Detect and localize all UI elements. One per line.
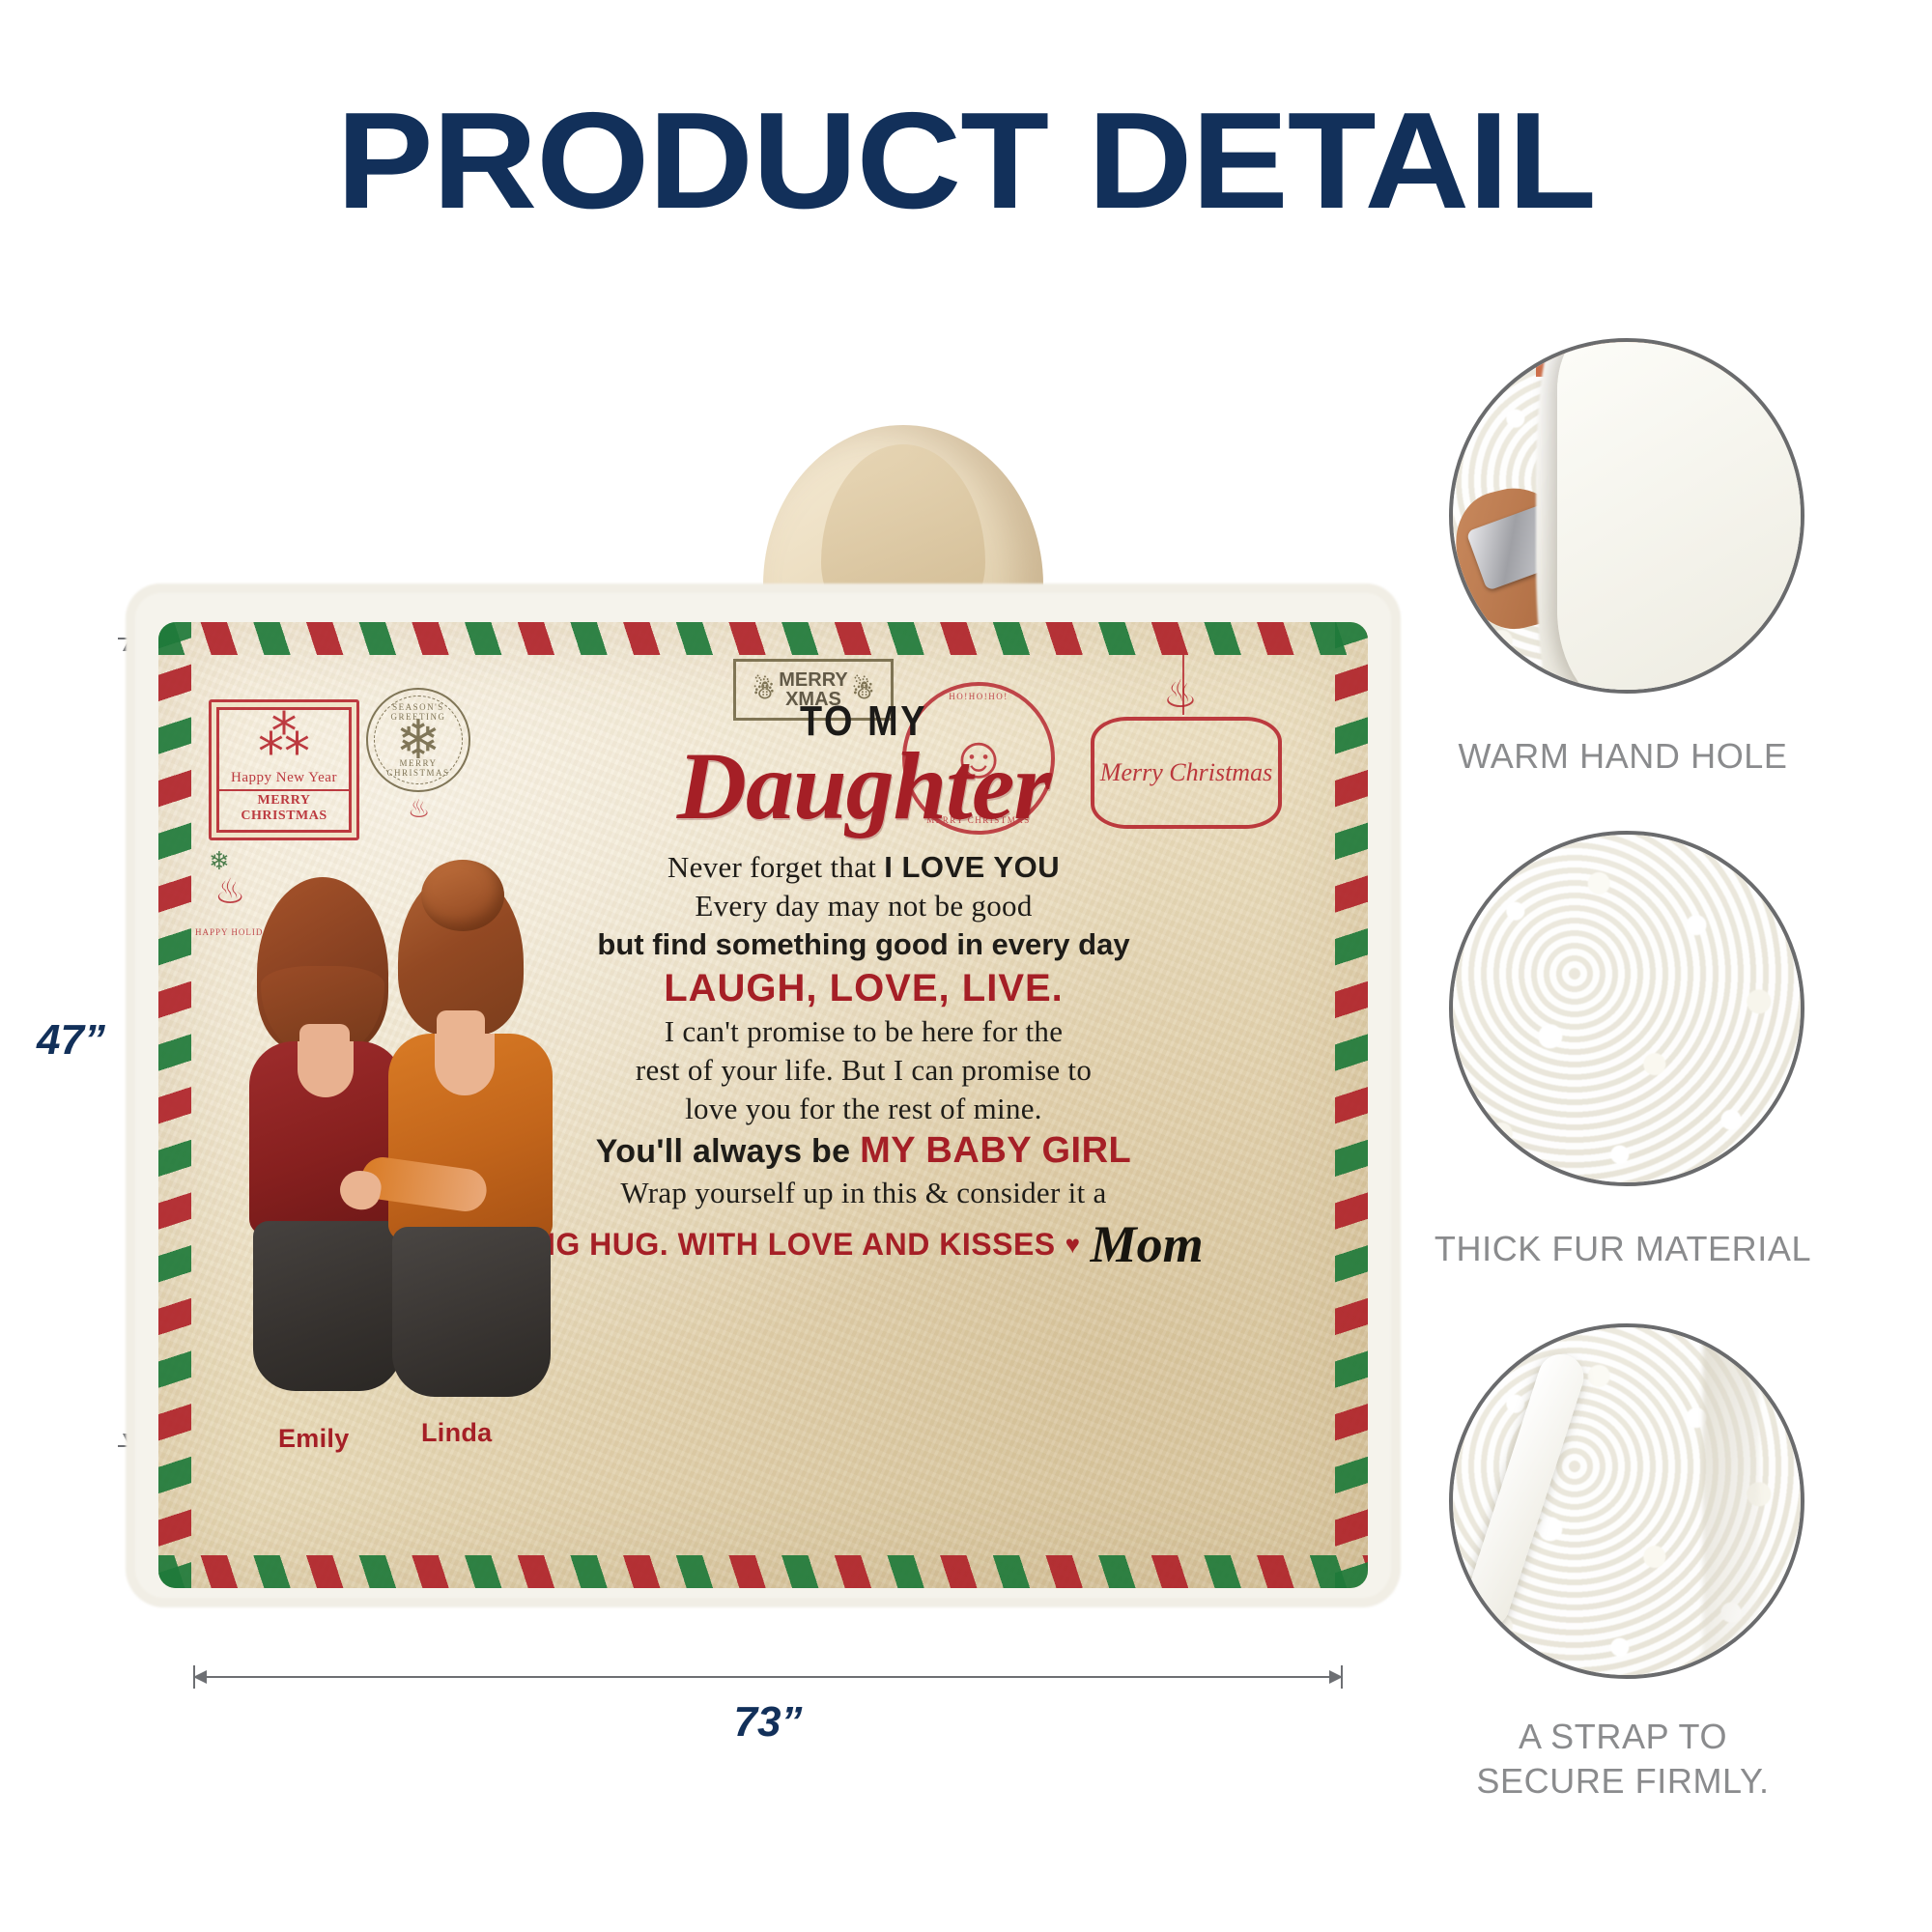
gingerbread-man-icon-right: ☃ (852, 680, 874, 699)
letter-line-7: love you for the rest of mine. (506, 1090, 1221, 1128)
letter-text-block: TO MY Daughter Never forget that I LOVE … (506, 699, 1221, 1274)
stamp-merry-christmas-line: MERRY CHRISTMAS (217, 789, 351, 824)
letter-line-9: Wrap yourself up in this & consider it a (506, 1174, 1221, 1212)
letter-line-6: rest of your life. But I can promise to (506, 1051, 1221, 1090)
strap-to-secure-label: A STRAP TO SECURE FIRMLY. (1352, 1715, 1893, 1804)
strap-to-secure-photo (1449, 1323, 1804, 1679)
letter-line-8: You'll always be MY BABY GIRL (506, 1128, 1221, 1174)
letter-to-line: TO MY (556, 699, 1171, 744)
gingerbread-man-icon-left: ☃ (753, 680, 775, 699)
letter-line-8-emphasis: MY BABY GIRL (860, 1130, 1131, 1171)
stamp-merry-xmas-line1: MERRY (779, 669, 847, 691)
thick-fur-material-label: THICK FUR MATERIAL (1352, 1227, 1893, 1271)
stamp-new-year-line: Happy New Year (212, 770, 356, 786)
height-arrow-bottom-icon (123, 1434, 136, 1447)
figure-right-hair-bun (421, 860, 504, 931)
stamp-ring-top-text: SEASON'S GREETING (375, 702, 462, 722)
figure-right-name: Linda (421, 1418, 493, 1448)
heart-icon: ♥ (1065, 1230, 1081, 1260)
letter-line-2: Every day may not be good (506, 887, 1221, 925)
figure-right-pants (392, 1227, 551, 1397)
figure-left-name: Emily (278, 1424, 350, 1454)
product-detail-page: PRODUCT DETAIL 47” 73” (0, 0, 1932, 1932)
letter-signature-name: Mom (1091, 1214, 1204, 1274)
width-arrow-left-icon (193, 1670, 207, 1684)
thick-fur-material-photo (1449, 831, 1804, 1186)
letter-body: Never forget that I LOVE YOU Every day m… (506, 848, 1221, 1274)
blanket-printed-face: ⁂ Happy New Year MERRY CHRISTMAS SEASON'… (158, 622, 1368, 1588)
height-dimension-label: 47” (37, 1016, 105, 1065)
stamp-ring: SEASON'S GREETING MERRY CHRISTMAS (374, 696, 463, 784)
letter-line-3: but find something good in every day (506, 925, 1221, 964)
figure-right-neckline (435, 1034, 495, 1095)
blanket-body: ⁂ Happy New Year MERRY CHRISTMAS SEASON'… (145, 609, 1381, 1584)
hand-hole-flap (1557, 338, 1804, 694)
width-dimension-label: 73” (0, 1698, 1536, 1747)
height-arrow-top-icon (123, 638, 136, 651)
sherpa-texture (1453, 835, 1801, 1182)
warm-hand-hole-label: WARM HAND HOLE (1372, 734, 1874, 779)
figure-left-pants (253, 1221, 402, 1391)
illustrated-figures: Emily Linda (216, 844, 564, 1511)
bells-icon: ⁂ (212, 702, 356, 770)
letter-signature-row: BIG HUG. WITH LOVE AND KISSES ♥ Mom (506, 1214, 1221, 1274)
blanket-edge (1703, 1327, 1759, 1675)
letter-line-1: Never forget that I LOVE YOU (506, 848, 1221, 887)
stamp-happy-new-year: ⁂ Happy New Year MERRY CHRISTMAS (209, 699, 359, 840)
letter-signature-text: BIG HUG. WITH LOVE AND KISSES (524, 1227, 1055, 1263)
page-title: PRODUCT DETAIL (0, 93, 1932, 230)
letter-line-8-pre: You'll always be (596, 1133, 860, 1170)
letter-line-5: I can't promise to be here for the (506, 1012, 1221, 1051)
stamp-ring-bottom-text: MERRY CHRISTMAS (375, 758, 462, 778)
width-arrow-right-icon (1329, 1670, 1343, 1684)
letter-line-1-pre: Never forget that (668, 850, 884, 884)
stamp-seasons-greetings: SEASON'S GREETING MERRY CHRISTMAS ❄ (366, 688, 470, 792)
hooded-blanket-product-image: ⁂ Happy New Year MERRY CHRISTMAS SEASON'… (145, 435, 1381, 1642)
letter-line-1-emphasis: I LOVE YOU (884, 850, 1060, 884)
warm-hand-hole-photo (1449, 338, 1804, 694)
figure-left-neckline (298, 1041, 354, 1097)
letter-recipient-name: Daughter (506, 740, 1221, 833)
height-dimension-line (128, 638, 130, 1447)
letter-line-4: LAUGH, LOVE, LIVE. (506, 964, 1221, 1012)
small-ornament-icon: ♨ (408, 794, 430, 824)
width-dimension-line (193, 1676, 1343, 1678)
